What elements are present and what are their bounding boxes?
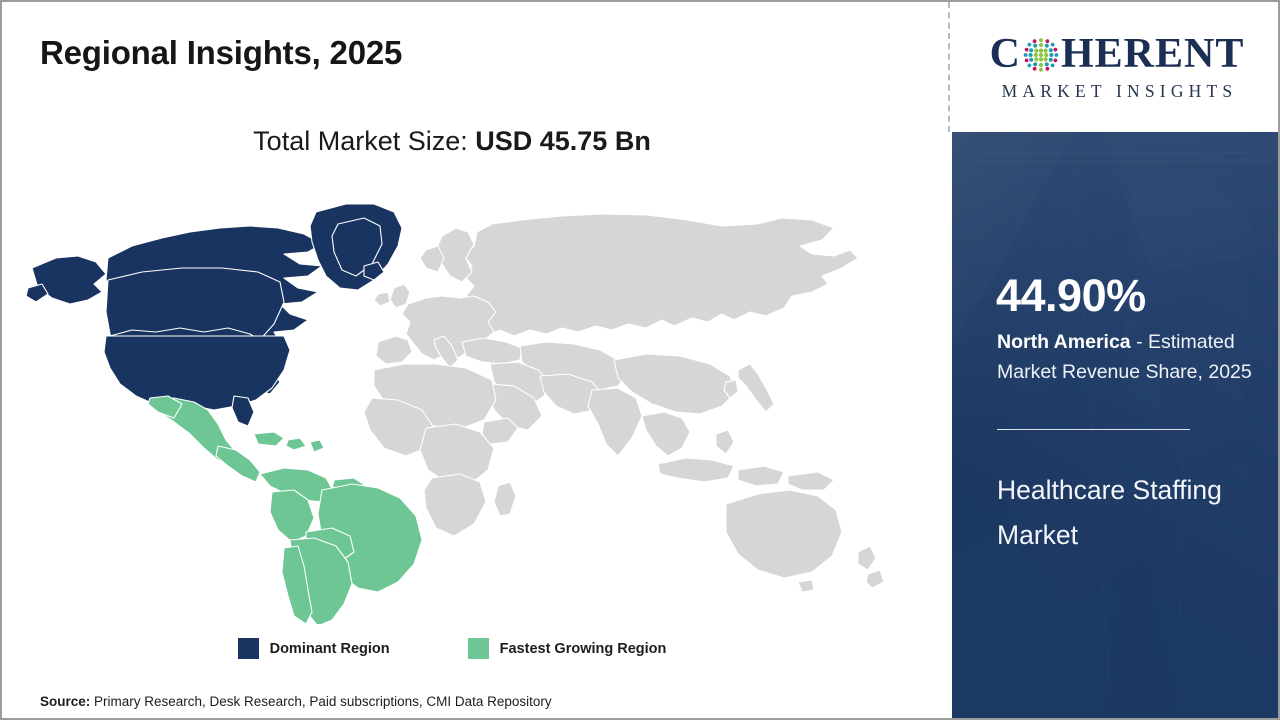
legend-item-fastest-growing: Fastest Growing Region xyxy=(468,638,667,659)
total-market-size: Total Market Size: USD 45.75 Bn xyxy=(2,126,902,157)
panel-watermark-image xyxy=(952,132,1280,720)
source-text: Primary Research, Desk Research, Paid su… xyxy=(90,694,551,709)
vertical-dashed-divider xyxy=(948,2,950,132)
logo-wordmark: C xyxy=(990,33,1245,75)
map-region-other xyxy=(358,214,884,592)
globe-dots-icon xyxy=(1022,36,1060,74)
stat-panel: 44.90% North America - Estimated Market … xyxy=(952,132,1280,720)
legend-swatch-dominant-icon xyxy=(238,638,259,659)
regional-insights-infographic: Regional Insights, 2025 Total Market Siz… xyxy=(0,0,1280,720)
stat-divider-rule xyxy=(997,429,1190,430)
source-label: Source: xyxy=(40,694,90,709)
source-note: Source: Primary Research, Desk Research,… xyxy=(40,694,552,709)
legend-swatch-fastest-growing-icon xyxy=(468,638,489,659)
logo-letters-herent: HERENT xyxy=(1061,33,1244,75)
legend-item-dominant: Dominant Region xyxy=(238,638,390,659)
legend-label-dominant: Dominant Region xyxy=(270,641,390,657)
map-region-dominant xyxy=(26,204,402,426)
market-name: Healthcare Staffing Market xyxy=(997,468,1269,557)
logo-letter-c: C xyxy=(990,33,1021,75)
world-map xyxy=(22,184,902,624)
company-logo: C xyxy=(952,2,1280,132)
market-size-value: USD 45.75 Bn xyxy=(475,126,651,156)
stat-value: 44.90% xyxy=(996,273,1146,318)
stat-region-name: North America xyxy=(997,331,1131,353)
world-map-container xyxy=(22,184,902,624)
left-content-panel: Regional Insights, 2025 Total Market Siz… xyxy=(2,2,950,718)
legend-label-fastest-growing: Fastest Growing Region xyxy=(500,641,667,657)
map-legend: Dominant Region Fastest Growing Region xyxy=(2,638,902,659)
page-title: Regional Insights, 2025 xyxy=(40,34,402,72)
logo-subtext: MARKET INSIGHTS xyxy=(997,81,1238,102)
market-size-label: Total Market Size: xyxy=(253,126,475,156)
stat-description: North America - Estimated Market Revenue… xyxy=(997,328,1265,387)
